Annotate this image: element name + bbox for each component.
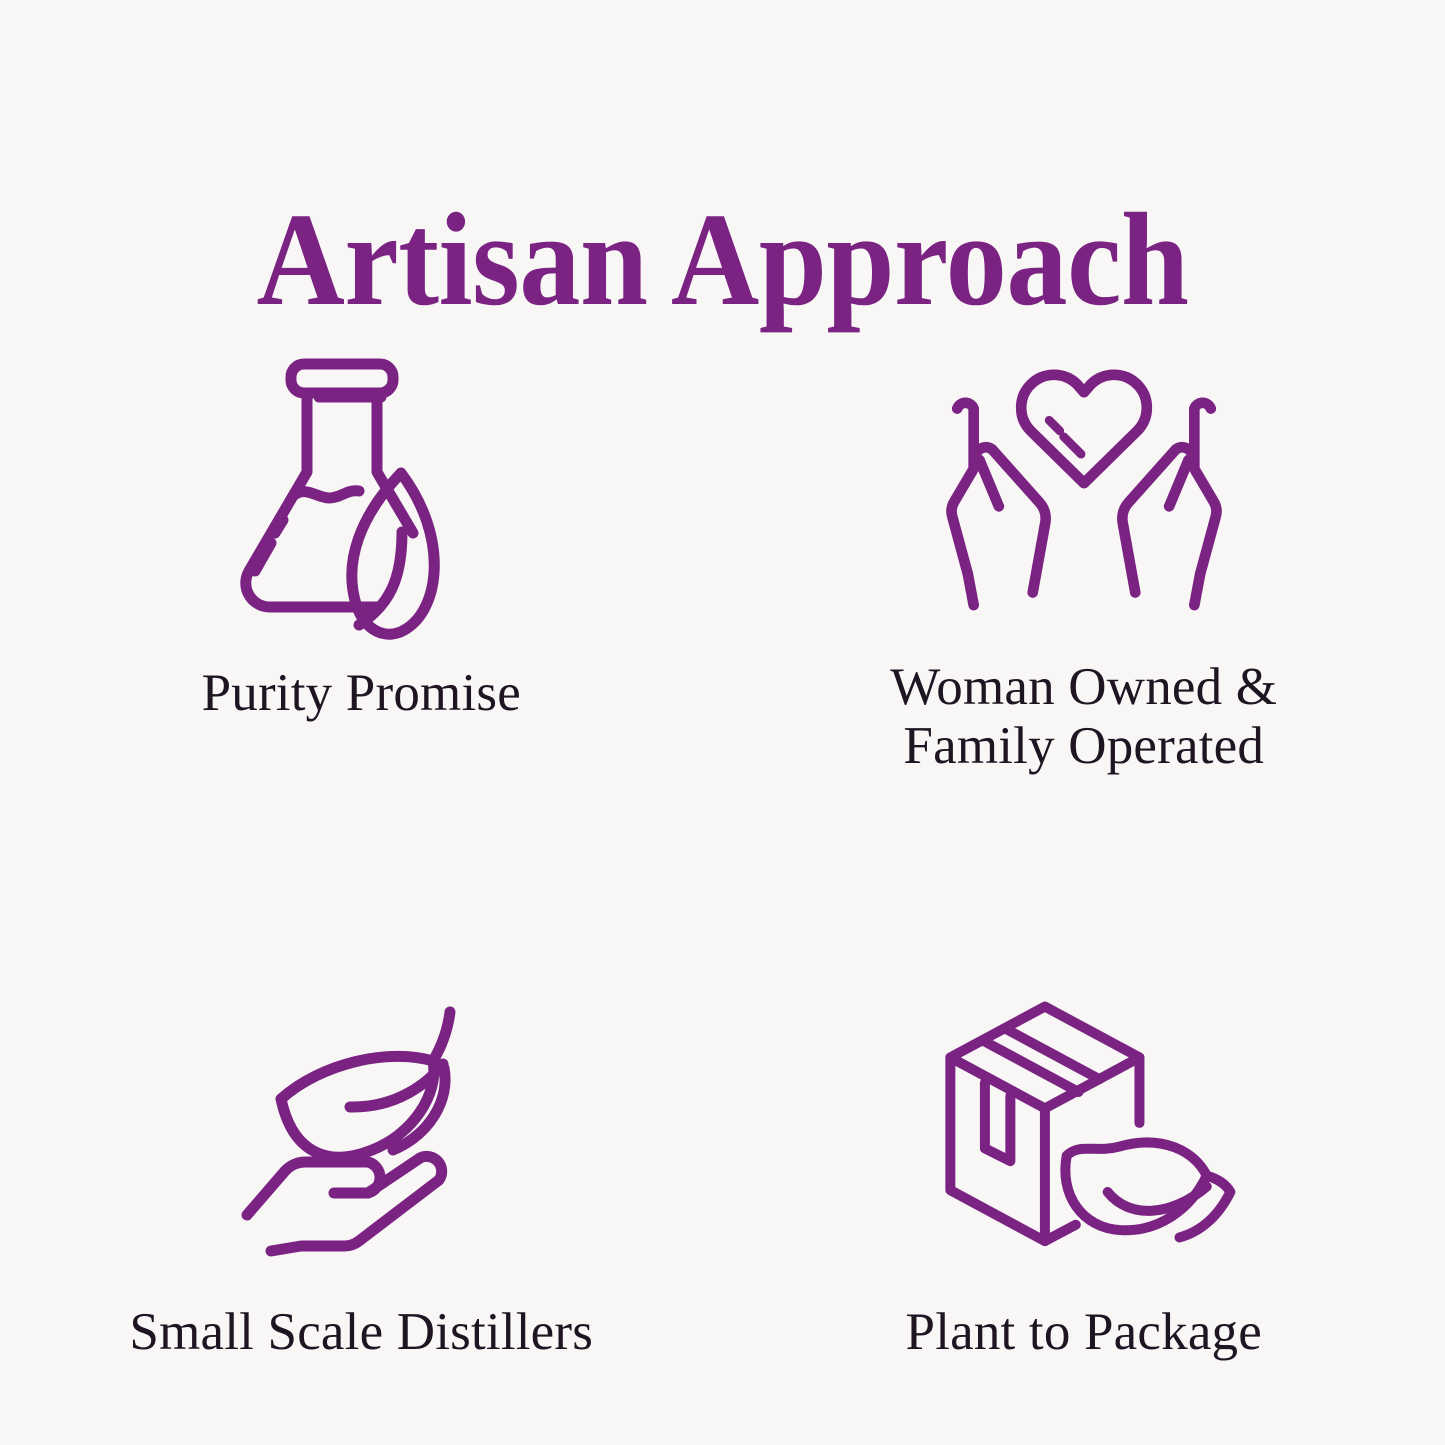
artisan-approach-panel: Artisan Approach [0, 0, 1445, 1445]
page-title: Artisan Approach [256, 193, 1188, 326]
package-box-leaf-icon [934, 983, 1234, 1261]
feature-grid: Purity Promise [0, 330, 1445, 1360]
feature-item-small-scale-distillers: Small Scale Distillers [0, 777, 723, 1362]
feature-item-woman-owned: Woman Owned & Family Operated [723, 330, 1445, 777]
flask-leaf-icon [211, 344, 511, 634]
feature-label: Woman Owned & Family Operated [890, 658, 1277, 777]
feature-item-plant-to-package: Plant to Package [723, 777, 1445, 1362]
feature-label: Small Scale Distillers [129, 1303, 593, 1362]
feature-label: Purity Promise [202, 664, 521, 723]
feature-item-purity-promise: Purity Promise [0, 330, 723, 777]
hands-holding-heart-icon [934, 352, 1234, 624]
leaf-over-hand-icon [211, 999, 511, 1261]
feature-label: Plant to Package [906, 1303, 1262, 1362]
